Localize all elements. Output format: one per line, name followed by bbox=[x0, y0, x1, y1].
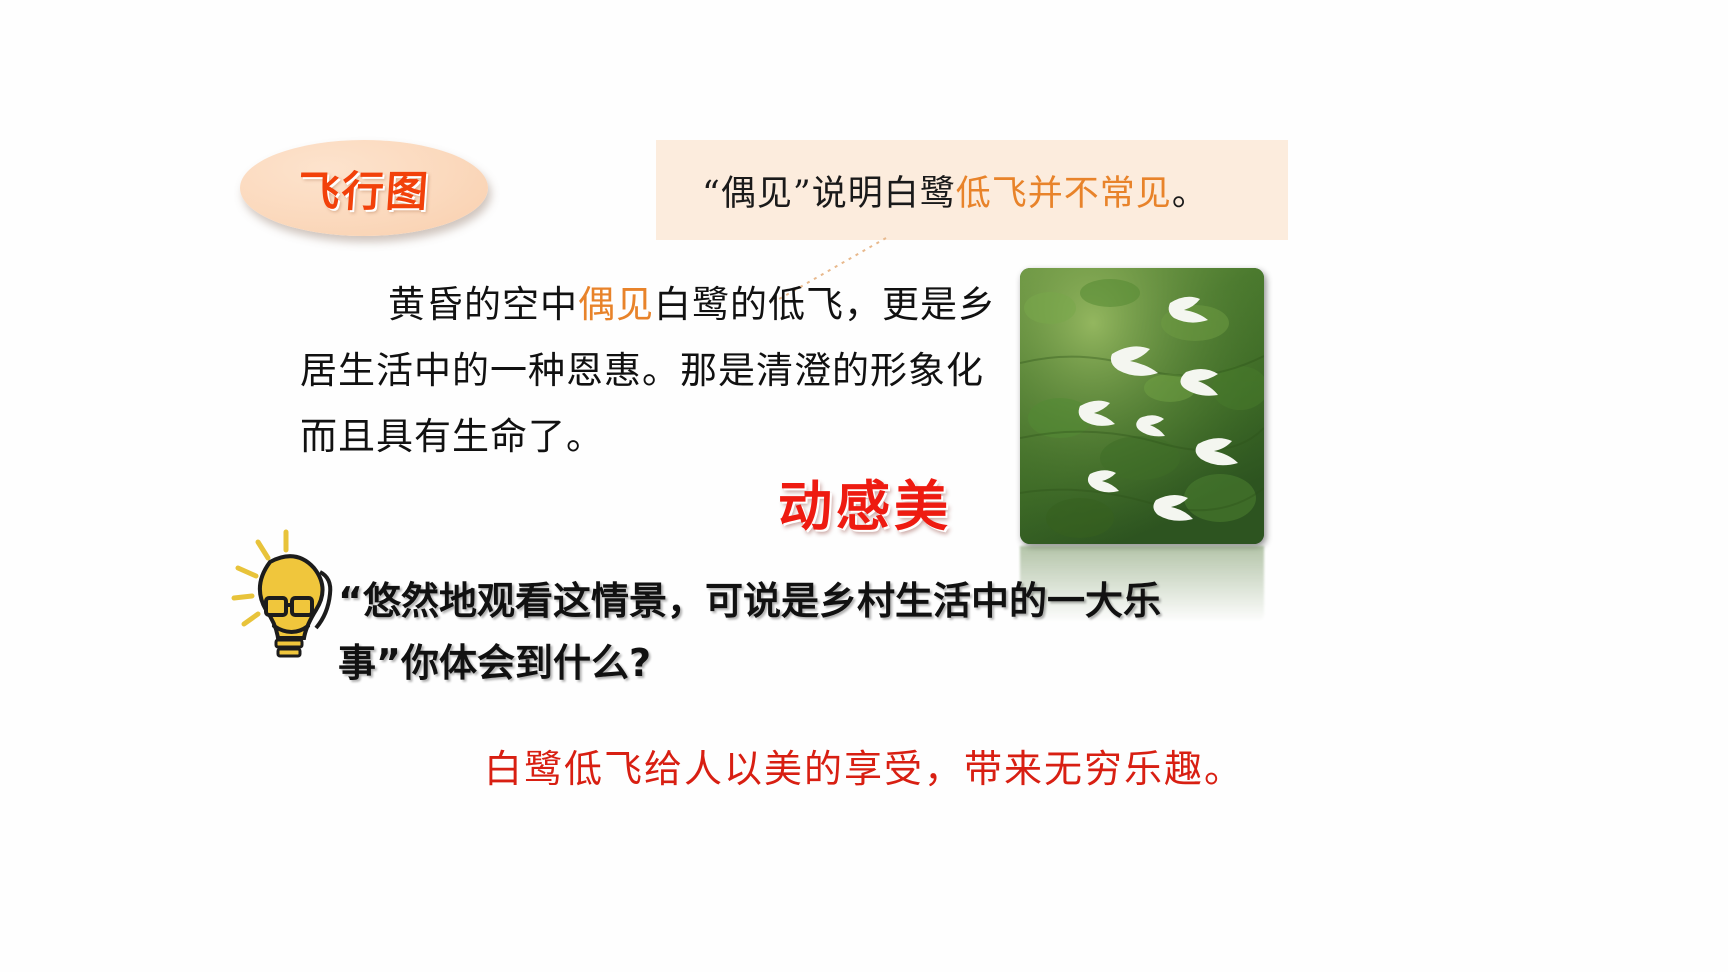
paragraph-highlight-ou-jian: 偶见 bbox=[578, 283, 654, 326]
reflection-question-line-1: “悠然地观看这情景，可说是乡村生活中的一大乐 bbox=[338, 570, 1238, 632]
egret-photo-graphic bbox=[1020, 268, 1264, 544]
paragraph-line-2: 居生活中的一种恩惠。那是清澄的形象化 bbox=[300, 338, 1020, 404]
paragraph-line-1: 黄昏的空中偶见白鹭的低飞，更是乡 bbox=[300, 272, 1020, 338]
callout-highlight: 低飞并不常见 bbox=[956, 174, 1172, 214]
section-badge-label: 飞行图 bbox=[296, 158, 432, 219]
annotation-callout-text: “偶见”说明白鹭低飞并不常见。 bbox=[656, 165, 1208, 216]
egret-photo bbox=[1020, 268, 1264, 544]
reflection-question-line-2: 事”你体会到什么? bbox=[338, 632, 1238, 694]
callout-suffix: 。 bbox=[1172, 174, 1208, 214]
slide-canvas: 飞行图 “偶见”说明白鹭低飞并不常见。 黄昏的空中偶见白鹭的低飞，更是乡 居生活… bbox=[0, 0, 1728, 972]
body-paragraph: 黄昏的空中偶见白鹭的低飞，更是乡 居生活中的一种恩惠。那是清澄的形象化 而且具有… bbox=[300, 272, 1020, 470]
paragraph-line-1-part-a: 黄昏的空中 bbox=[388, 283, 578, 326]
conclusion-text: 白鹭低飞给人以美的享受，带来无穷乐趣。 bbox=[0, 738, 1728, 793]
paragraph-line-1-part-b: 白鹭的低飞，更是乡 bbox=[654, 283, 996, 326]
annotation-callout: “偶见”说明白鹭低飞并不常见。 bbox=[656, 140, 1288, 240]
callout-prefix: “偶见”说明白鹭 bbox=[702, 174, 956, 214]
lightbulb-idea-icon bbox=[228, 528, 348, 664]
dynamic-beauty-label: 动感美 bbox=[778, 462, 952, 541]
paragraph-line-3: 而且具有生命了。 bbox=[300, 404, 1020, 470]
reflection-question: “悠然地观看这情景，可说是乡村生活中的一大乐 事”你体会到什么? bbox=[338, 570, 1238, 694]
section-badge: 飞行图 bbox=[240, 140, 488, 236]
